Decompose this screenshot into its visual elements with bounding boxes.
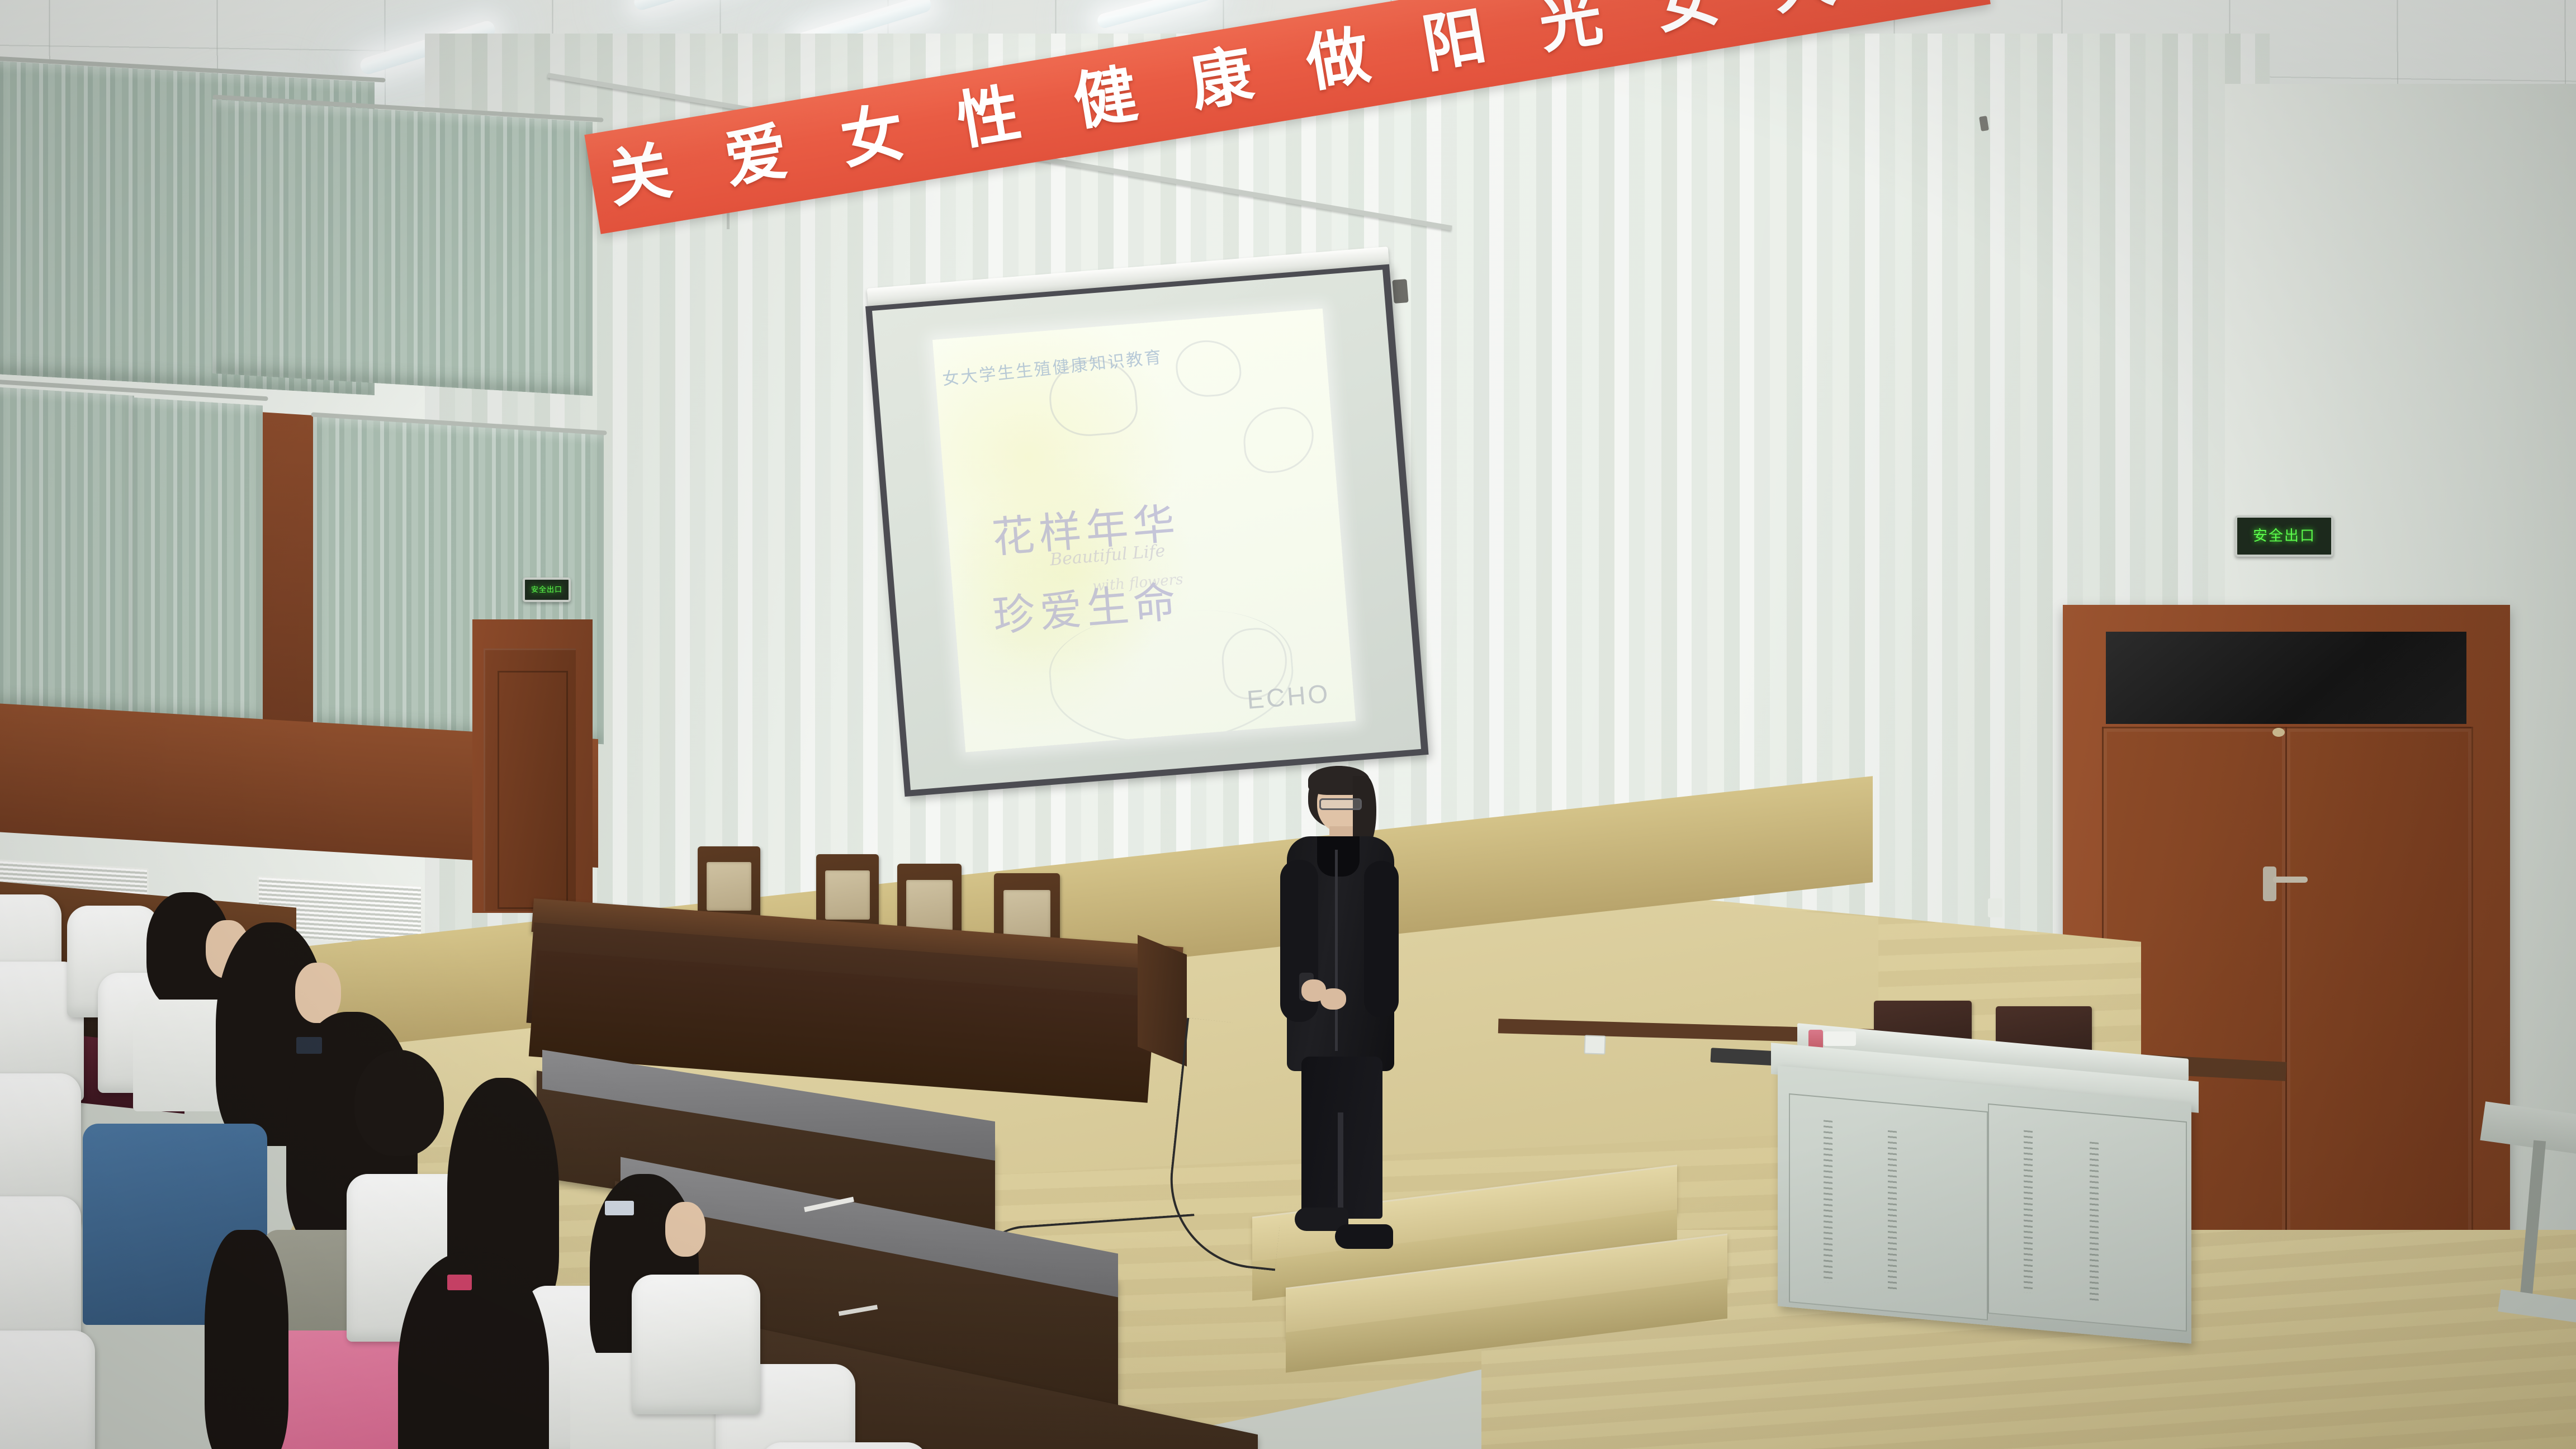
av-vent-3 [2024,1130,2033,1293]
audience-person-7-hair-clip [447,1275,472,1290]
exit-sign-right-label: 安全出口 [2253,529,2315,543]
stage-chair-2[interactable] [816,854,879,927]
wall-outlet[interactable] [1584,1035,1606,1054]
exit-sign-left: 安全出口 [523,577,571,602]
audience-seat-front-6[interactable] [632,1275,760,1414]
av-cabinet-door-left[interactable] [1789,1093,1988,1320]
exit-sign-left-label: 安全出口 [531,586,562,594]
audience-area [0,939,1342,1449]
presenter-right-shoe [1335,1224,1393,1249]
stage-chair-1-cushion [707,862,752,911]
audience-person-4-hair [205,1230,288,1449]
banner-hook-right [1979,116,1989,131]
stage-chair-1[interactable] [698,846,760,918]
audience-seat-empty-5[interactable] [0,1330,95,1449]
window-jamb-2 [254,411,319,728]
av-vent-4 [2090,1142,2099,1303]
stage-chair-2-cushion [825,870,870,920]
audience-person-5-head [354,1050,444,1156]
window-curtain-lower-1 [0,387,134,714]
projector-screen-mount [1392,279,1408,304]
slide-logo-text: ECHO [1246,678,1331,715]
right-door-handle-plate[interactable] [2263,866,2276,901]
audience-person-7-hair [398,1252,549,1449]
right-door-transom-window [2106,632,2466,724]
event-banner-text: 关 爱 女 性 健 康 做 阳 光 女 大 学 生 [587,0,1987,214]
audience-person-8-face [665,1202,705,1257]
window-curtain-lower-2 [129,397,263,724]
audience-seat-front-5[interactable] [760,1442,928,1449]
presenter-right-arm [1364,861,1399,1017]
right-door-upper-knob [2272,728,2285,737]
left-door-panel-inset [498,671,568,909]
right-door-leaf-right[interactable] [2285,727,2473,1250]
audience-person-3-hair-clip [296,1037,322,1054]
wall-switch[interactable] [1988,898,2002,917]
event-banner: 关 爱 女 性 健 康 做 阳 光 女 大 学 生 [584,0,1991,234]
right-door-handle-lever[interactable] [2273,877,2308,883]
slide-swirl-3 [1241,405,1317,475]
audience-person-8-hair-clip [605,1201,634,1215]
auditorium-photo: 安全出口 关 爱 女 性 健 康 做 阳 光 女 大 学 生 女大学生生殖健康知… [0,0,2576,1449]
exit-sign-right: 安全出口 [2235,515,2333,557]
window-curtain-upper-right [212,100,593,396]
av-vent-2 [1888,1130,1897,1290]
av-vent-1 [1824,1120,1832,1282]
glasses-icon [1319,798,1362,810]
av-cabinet-door-right[interactable] [1988,1104,2187,1332]
presenter-collar [1317,836,1360,877]
tissue-box[interactable] [1824,1031,1856,1046]
stage-chair-3-cushion [906,880,953,930]
projected-slide: 女大学生生殖健康知识教育 花样年华 Beautiful Life 珍爱生命 wi… [932,309,1356,752]
